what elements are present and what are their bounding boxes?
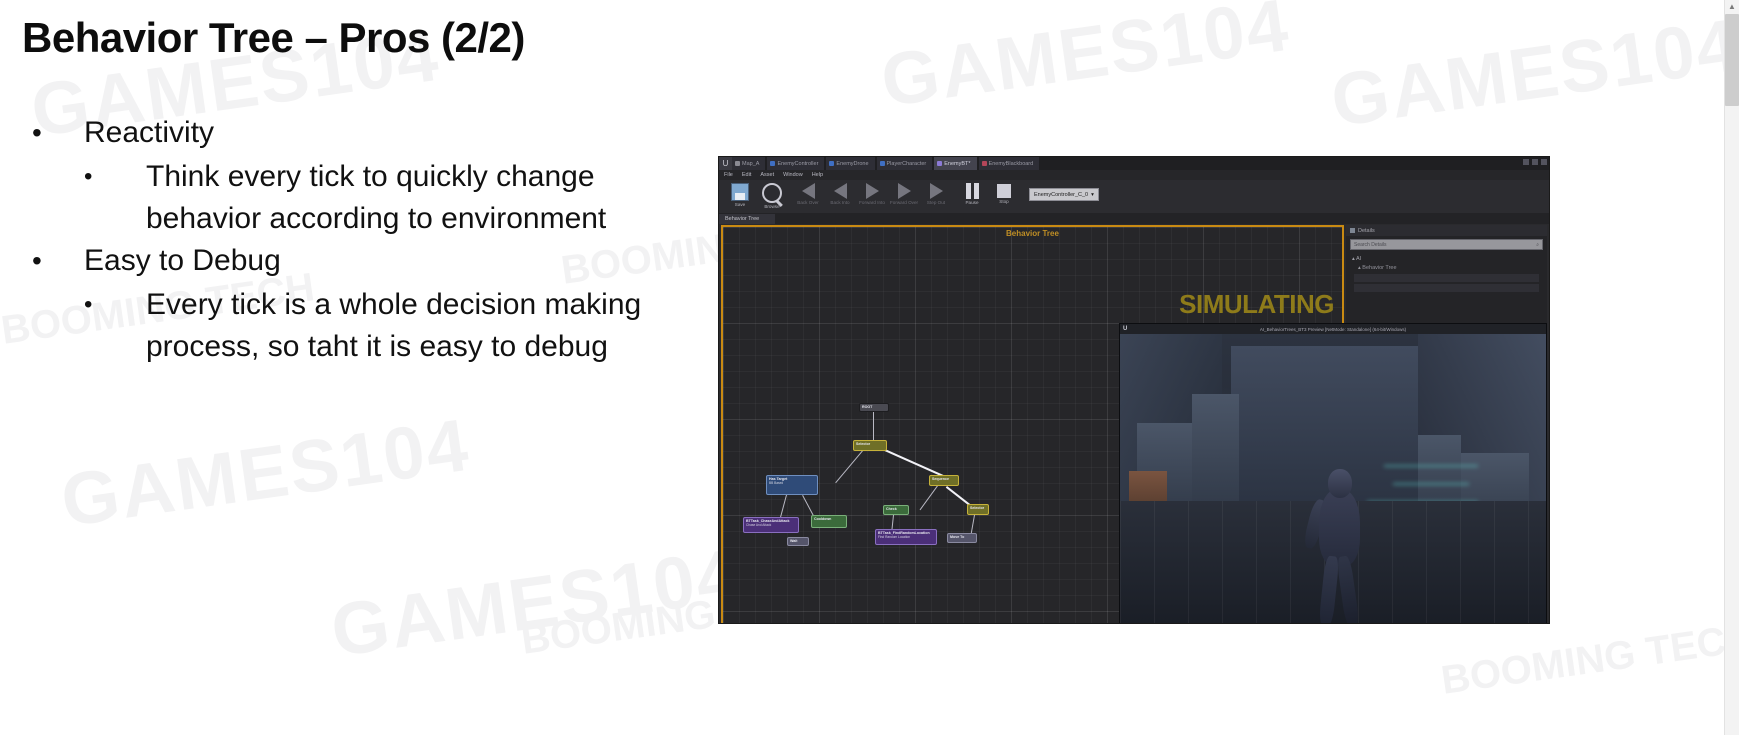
forward-over-icon <box>898 183 911 199</box>
watermark-games104: GAMES104 <box>326 532 745 673</box>
unreal-logo-icon: U <box>719 157 732 170</box>
browse-icon <box>762 183 782 203</box>
editor-tab-label: PlayerCharacter <box>887 161 927 167</box>
viewport-title-bar: U AI_BehaviorTrees_BT3 Preview [NetMode:… <box>1120 324 1546 334</box>
pause-icon <box>965 183 980 199</box>
editor-tab-label: Map_A <box>742 161 759 167</box>
viewport-title: AI_BehaviorTrees_BT3 Preview [NetMode: S… <box>1260 327 1406 332</box>
details-row[interactable] <box>1354 274 1539 282</box>
browse-button[interactable]: Browse <box>756 182 788 209</box>
unreal-logo-icon: U <box>1123 326 1127 332</box>
search-details-input[interactable]: Search Details ⌕ <box>1350 239 1543 250</box>
watermark-booming-tech: BOOMING TECH <box>1439 618 1739 700</box>
details-category-label: Behavior Tree <box>1362 265 1396 271</box>
node-subtitle: Find Random Location <box>878 535 934 539</box>
save-icon <box>731 183 749 201</box>
graph-node-cooldown[interactable]: Cooldown <box>811 515 847 528</box>
character-body <box>1319 489 1360 566</box>
character-head <box>1328 469 1352 497</box>
graph-title: Behavior Tree <box>723 229 1342 238</box>
details-icon <box>1350 228 1355 233</box>
character-leg <box>1336 555 1360 623</box>
pause-button-label: Pause <box>965 200 978 205</box>
details-tab[interactable]: Details <box>1346 225 1547 236</box>
back-into-button-label: Back Into <box>830 200 849 205</box>
dock-tab-bar: Behavior Tree <box>719 213 1549 224</box>
graph-node-has-target[interactable]: Has Target BB Based <box>766 475 818 495</box>
blueprint-icon <box>829 161 834 166</box>
editor-body: Behavior Tree ROOT Selector Has Target B… <box>719 224 1549 623</box>
graph-node-selector-2[interactable]: Selector <box>967 504 989 515</box>
bullet-marker: • <box>22 156 146 198</box>
details-category-ai[interactable]: ▴ AI <box>1346 253 1547 263</box>
menu-item-asset[interactable]: Asset <box>760 172 774 178</box>
save-button[interactable]: Save <box>724 182 756 207</box>
menu-item-help[interactable]: Help <box>812 172 823 178</box>
list-item: • Every tick is a whole decision making … <box>22 284 702 368</box>
tab-behavior-tree[interactable]: Behavior Tree <box>719 214 775 224</box>
list-item: • Think every tick to quickly change beh… <box>22 156 702 240</box>
blueprint-icon <box>880 161 885 166</box>
forward-into-button-label: Forward Into <box>859 200 885 205</box>
forward-into-icon <box>866 183 879 199</box>
back-over-button-label: Back Over <box>797 200 818 205</box>
forward-over-button-label: Forward Over <box>890 200 918 205</box>
close-icon[interactable] <box>1541 159 1547 165</box>
character-leg <box>1318 555 1340 623</box>
step-out-icon <box>930 183 943 199</box>
stop-button-label: Stop <box>999 199 1008 204</box>
node-title: Selector <box>856 442 884 446</box>
chevron-down-icon: ▾ <box>1091 192 1094 198</box>
graph-node-wait[interactable]: Wait <box>787 537 809 546</box>
editor-toolbar: Save Browse Back Over Back Into Forward … <box>719 180 1549 213</box>
bullet-marker: • <box>22 240 84 282</box>
scene-glow-line <box>1384 465 1478 467</box>
graph-node-find-random-location[interactable]: BTTask_FindRandomLocation Find Random Lo… <box>875 529 937 545</box>
save-button-label: Save <box>735 202 745 207</box>
step-out-button[interactable]: Step Out <box>920 182 952 205</box>
graph-node-sequence[interactable]: Sequence <box>929 475 959 486</box>
editor-tab-label: EnemyController <box>777 161 818 167</box>
watermark-games104: GAMES104 <box>56 402 475 543</box>
bullet-marker: • <box>22 112 84 154</box>
viewport-scene <box>1120 334 1546 623</box>
menu-item-window[interactable]: Window <box>783 172 803 178</box>
editor-tab-enemyblackboard[interactable]: EnemyBlackboard <box>979 157 1040 170</box>
page-scrollbar[interactable]: ▲ <box>1724 0 1739 735</box>
menu-item-edit[interactable]: Edit <box>742 172 751 178</box>
list-item: • Easy to Debug <box>22 240 702 282</box>
watermark-games104: GAMES104 <box>1326 2 1739 143</box>
blackboard-icon <box>982 161 987 166</box>
blueprint-icon <box>770 161 775 166</box>
editor-tab-label: EnemyDrone <box>836 161 868 167</box>
bullet-marker: • <box>22 284 146 326</box>
watermark-games104: GAMES104 <box>876 0 1295 123</box>
graph-node-check[interactable]: Check <box>883 505 909 515</box>
bullet-text: Easy to Debug <box>84 240 281 282</box>
stop-button[interactable]: Stop <box>988 182 1020 204</box>
browse-button-label: Browse <box>764 204 779 209</box>
scroll-up-arrow-icon[interactable]: ▲ <box>1725 0 1739 14</box>
bullet-list: • Reactivity • Think every tick to quick… <box>22 112 702 368</box>
node-title: Selector <box>970 506 986 510</box>
forward-over-button[interactable]: Forward Over <box>888 182 920 205</box>
page-title: Behavior Tree – Pros (2/2) <box>22 14 525 62</box>
back-into-icon <box>834 183 847 199</box>
pause-button[interactable]: Pause <box>956 182 988 205</box>
bullet-text: Every tick is a whole decision making pr… <box>146 284 702 368</box>
node-subtitle: Chase And Attack <box>746 523 796 527</box>
node-title: Check <box>886 507 906 511</box>
window-controls[interactable] <box>1523 159 1547 165</box>
maximize-icon[interactable] <box>1532 159 1538 165</box>
search-icon: ⌕ <box>1536 242 1539 248</box>
graph-node-selector[interactable]: Selector <box>853 440 887 451</box>
back-over-button[interactable]: Back Over <box>792 182 824 205</box>
node-title: Wait <box>790 539 806 543</box>
menu-bar: File Edit Asset Window Help <box>719 170 1549 180</box>
editor-tab-map-a[interactable]: Map_A <box>732 157 765 170</box>
editor-tab-enemybt[interactable]: EnemyBT* <box>934 157 976 170</box>
details-row[interactable] <box>1354 284 1539 292</box>
details-category-label: AI <box>1356 256 1361 262</box>
behavior-tree-icon <box>937 161 942 166</box>
node-title: Sequence <box>932 477 956 481</box>
details-tab-label: Details <box>1358 228 1375 234</box>
scene-glow-line <box>1393 483 1470 485</box>
graph-node-chase-and-attack[interactable]: BTTask_ChaseAndAttack Chase And Attack <box>743 517 799 533</box>
graph-node-root[interactable]: ROOT <box>859 403 889 412</box>
editor-tab-bar: U Map_A EnemyController EnemyDrone Playe… <box>719 157 1549 170</box>
forward-into-button[interactable]: Forward Into <box>856 182 888 205</box>
editor-tab-playercharacter[interactable]: PlayerCharacter <box>877 157 933 170</box>
node-subtitle: BB Based <box>769 481 815 485</box>
node-title: ROOT <box>862 405 886 409</box>
node-title: Cooldown <box>814 517 844 521</box>
graph-node-move-to[interactable]: Move To <box>947 533 977 543</box>
preview-viewport[interactable]: U AI_BehaviorTrees_BT3 Preview [NetMode:… <box>1119 323 1547 623</box>
scrollbar-thumb[interactable] <box>1725 14 1739 106</box>
stop-icon <box>997 184 1011 198</box>
list-item: • Reactivity <box>22 112 702 154</box>
back-into-button[interactable]: Back Into <box>824 182 856 205</box>
editor-tab-label: EnemyBT* <box>944 161 970 167</box>
debug-target-value: EnemyController_C_0 <box>1034 192 1088 198</box>
debug-target-dropdown[interactable]: EnemyController_C_0 ▾ <box>1029 188 1099 201</box>
unreal-editor-window: U Map_A EnemyController EnemyDrone Playe… <box>719 157 1549 623</box>
bullet-text: Think every tick to quickly change behav… <box>146 156 702 240</box>
back-over-icon <box>802 183 815 199</box>
minimize-icon[interactable] <box>1523 159 1529 165</box>
simulating-overlay: SIMULATING <box>1179 289 1334 320</box>
step-out-button-label: Step Out <box>927 200 945 205</box>
bullet-text: Reactivity <box>84 112 214 154</box>
node-title: Move To <box>950 535 974 539</box>
map-icon <box>735 161 740 166</box>
editor-tab-enemydrone[interactable]: EnemyDrone <box>826 157 874 170</box>
details-category-behavior-tree[interactable]: ▴ Behavior Tree <box>1346 263 1547 272</box>
scene-crate <box>1192 394 1239 501</box>
editor-tab-label: EnemyBlackboard <box>989 161 1034 167</box>
scene-character <box>1303 459 1375 623</box>
search-input-placeholder: Search Details <box>1354 242 1387 248</box>
graph-edge <box>873 412 874 440</box>
menu-item-file[interactable]: File <box>724 172 733 178</box>
editor-tab-enemycontroller[interactable]: EnemyController <box>767 157 824 170</box>
